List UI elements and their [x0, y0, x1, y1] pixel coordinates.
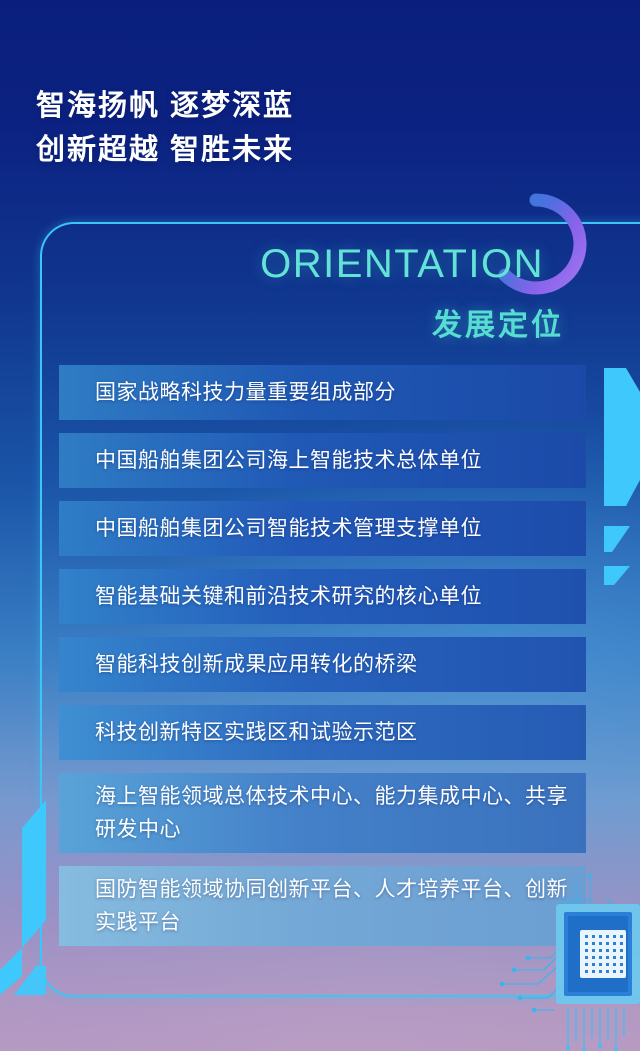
- list-item[interactable]: 海上智能领域总体技术中心、能力集成中心、共享研发中心: [59, 773, 586, 853]
- headline: 智海扬帆 逐梦深蓝 创新超越 智胜未来: [36, 84, 294, 172]
- list-item[interactable]: 国家战略科技力量重要组成部分: [59, 365, 586, 420]
- list-item[interactable]: 科技创新特区实践区和试验示范区: [59, 705, 586, 760]
- list-item-label: 中国船舶集团公司海上智能技术总体单位: [95, 444, 568, 477]
- list-item[interactable]: 中国船舶集团公司海上智能技术总体单位: [59, 433, 586, 488]
- list-item[interactable]: 中国船舶集团公司智能技术管理支撑单位: [59, 501, 586, 556]
- list-item[interactable]: 智能基础关键和前沿技术研究的核心单位: [59, 569, 586, 624]
- page-title-en: ORIENTATION: [260, 242, 544, 287]
- list-item-label: 智能基础关键和前沿技术研究的核心单位: [95, 580, 568, 613]
- list-item-label: 中国船舶集团公司智能技术管理支撑单位: [95, 512, 568, 545]
- list-item[interactable]: 国防智能领域协同创新平台、人才培养平台、创新实践平台: [59, 866, 586, 946]
- page-title-cn: 发展定位: [432, 300, 564, 344]
- list-item-label: 海上智能领域总体技术中心、能力集成中心、共享研发中心: [95, 780, 568, 846]
- left-chevron-accent-icon: [0, 770, 46, 995]
- list-item[interactable]: 智能科技创新成果应用转化的桥梁: [59, 637, 586, 692]
- right-chevron-accent-icon: [596, 330, 640, 585]
- orientation-list: 国家战略科技力量重要组成部分 中国船舶集团公司海上智能技术总体单位 中国船舶集团…: [59, 365, 586, 959]
- headline-line-2: 创新超越 智胜未来: [36, 128, 294, 172]
- list-item-label: 国家战略科技力量重要组成部分: [95, 376, 568, 409]
- list-item-label: 科技创新特区实践区和试验示范区: [95, 716, 568, 749]
- headline-line-1: 智海扬帆 逐梦深蓝: [36, 90, 294, 122]
- poster-canvas: 智海扬帆 逐梦深蓝 创新超越 智胜未来 ORIENTATION 发展定位 国家战…: [0, 0, 640, 1051]
- list-item-label: 国防智能领域协同创新平台、人才培养平台、创新实践平台: [95, 873, 568, 939]
- list-item-label: 智能科技创新成果应用转化的桥梁: [95, 648, 568, 681]
